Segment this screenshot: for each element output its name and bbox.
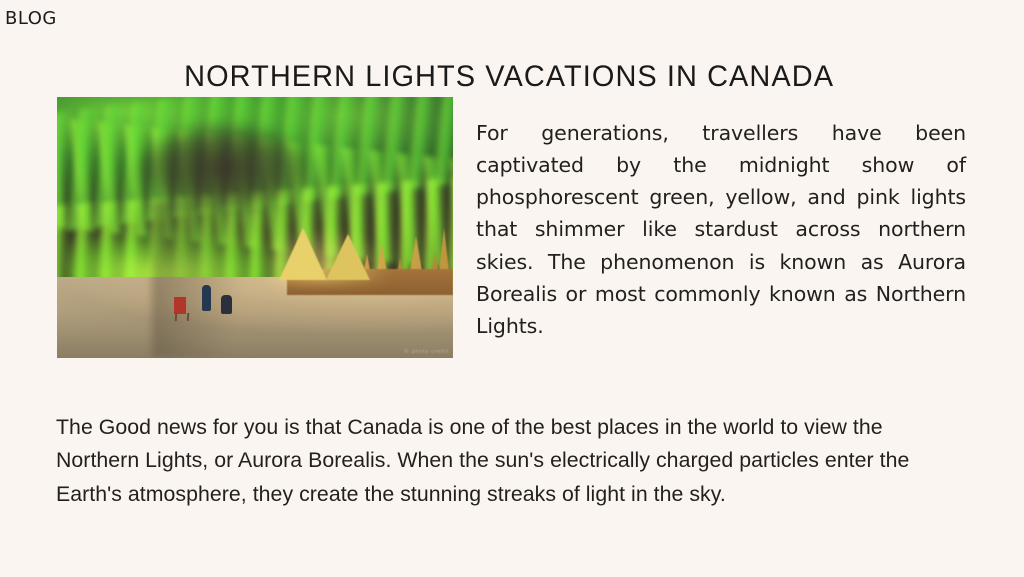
aurora-photo-illustration: © photo credit [57, 97, 453, 358]
blog-article-page: Blog NORTHERN LIGHTS VACATIONS IN CANADA [0, 0, 1024, 577]
aurora-photo: © photo credit [57, 97, 453, 358]
photo-watermark: © photo credit [404, 349, 449, 355]
intro-paragraph: For generations, travellers have been ca… [476, 117, 966, 343]
ground-shadow [152, 201, 271, 358]
teepee-icon [326, 234, 370, 280]
person-figure [202, 285, 211, 311]
page-title: NORTHERN LIGHTS VACATIONS IN CANADA [18, 58, 1006, 96]
blog-eyebrow-label: Blog [5, 1, 57, 31]
person-figure [221, 295, 232, 314]
teepee-icon [279, 228, 327, 280]
body-paragraph: The Good news for you is that Canada is … [56, 411, 961, 512]
camping-chair [174, 297, 186, 314]
